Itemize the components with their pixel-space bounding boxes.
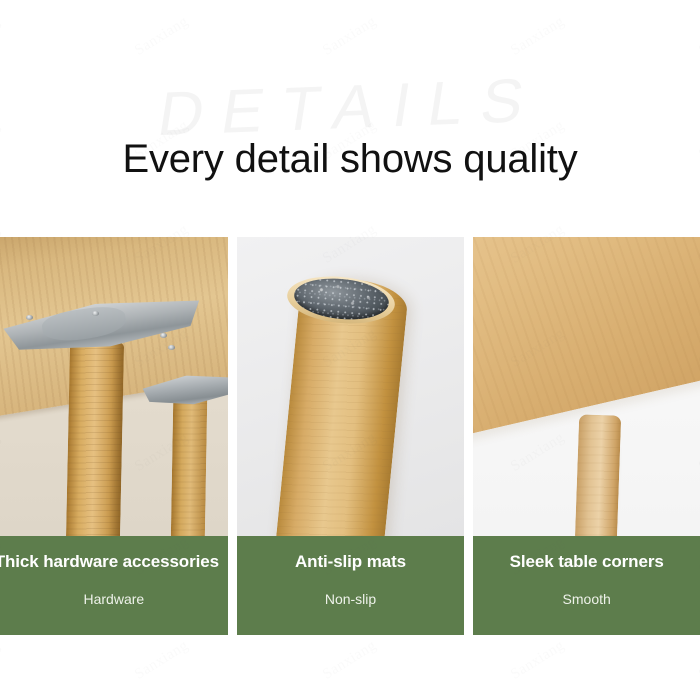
caption-bar-corners: Sleek table corners Smooth [473, 536, 700, 635]
screw-icon [160, 333, 167, 338]
feature-panel-hardware[interactable]: Thick hardware accessories Hardware [0, 237, 228, 635]
product-detail-banner: DETAILS Every detail shows quality Thi [0, 0, 700, 700]
caption-subtitle: Hardware [83, 591, 144, 607]
table-leg-secondary [171, 392, 208, 536]
feature-panel-non-slip[interactable]: Anti-slip mats Non-slip [237, 237, 465, 635]
caption-bar-hardware: Thick hardware accessories Hardware [0, 536, 228, 635]
caption-title: Sleek table corners [510, 552, 664, 572]
table-leg-primary [66, 336, 124, 536]
panel-gap [464, 237, 473, 635]
screw-icon [92, 311, 99, 316]
header-section: DETAILS Every detail shows quality [0, 0, 700, 237]
feature-panel-row: Thick hardware accessories Hardware Anti… [0, 237, 700, 635]
caption-bar-non-slip: Anti-slip mats Non-slip [237, 536, 465, 635]
table-leg [575, 414, 621, 536]
caption-title: Anti-slip mats [295, 552, 406, 572]
table-leg-bracket-photo [0, 237, 228, 536]
feature-panel-corners[interactable]: Sleek table corners Smooth [473, 237, 700, 635]
anti-slip-pad-photo [237, 237, 465, 536]
caption-subtitle: Smooth [563, 591, 611, 607]
caption-subtitle: Non-slip [325, 591, 376, 607]
panel-gap [228, 237, 237, 635]
page-title: Every detail shows quality [0, 137, 700, 182]
screw-icon [26, 315, 33, 320]
screw-icon [168, 345, 175, 350]
table-corner-photo [473, 237, 700, 536]
caption-title: Thick hardware accessories [0, 552, 219, 572]
footer-whitespace [0, 635, 700, 700]
